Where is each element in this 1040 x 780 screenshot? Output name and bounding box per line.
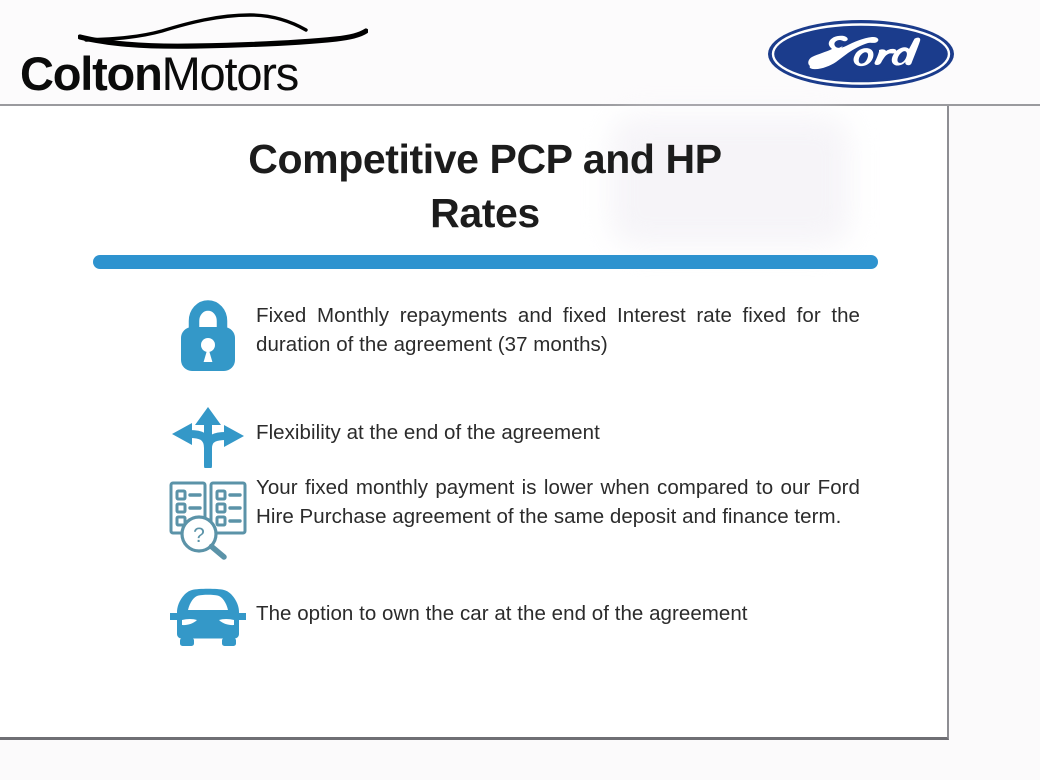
page-title: Competitive PCP and HP Rates [90,132,880,240]
page-title-line-2: Rates [90,186,880,240]
page-title-line-1: Competitive PCP and HP [90,132,880,186]
feature-icon-slot: ? [160,472,256,560]
feature-icon-slot [160,300,256,374]
brand-name-light: Motors [162,47,298,100]
brand-name-bold: Colton [20,47,162,100]
padlock-icon [177,300,239,374]
three-way-arrows-icon [170,404,246,468]
feature-row: ? Your fixed monthly payment is lower wh… [160,472,860,560]
feature-text: Fixed Monthly repayments and fixed Inter… [256,300,860,359]
brand-wordmark: ColtonMotors [20,46,380,102]
document-compare-magnifier-icon: ? [166,476,250,560]
feature-row: Flexibility at the end of the agreement [160,404,860,468]
page-header: ColtonMotors [0,0,1040,106]
feature-icon-slot [160,586,256,648]
colton-motors-logo: ColtonMotors [20,8,380,102]
car-front-icon [165,586,251,648]
ford-oval-logo [766,18,956,90]
feature-icon-slot [160,404,256,468]
feature-row: The option to own the car at the end of … [160,586,860,648]
svg-text:?: ? [193,524,205,547]
title-divider-bar [93,255,878,269]
content-card: Competitive PCP and HP Rates Fixed Month… [0,106,949,740]
feature-row: Fixed Monthly repayments and fixed Inter… [160,300,860,374]
feature-text: Flexibility at the end of the agreement [256,404,860,448]
feature-text: The option to own the car at the end of … [256,586,860,629]
feature-text: Your fixed monthly payment is lower when… [256,472,860,531]
